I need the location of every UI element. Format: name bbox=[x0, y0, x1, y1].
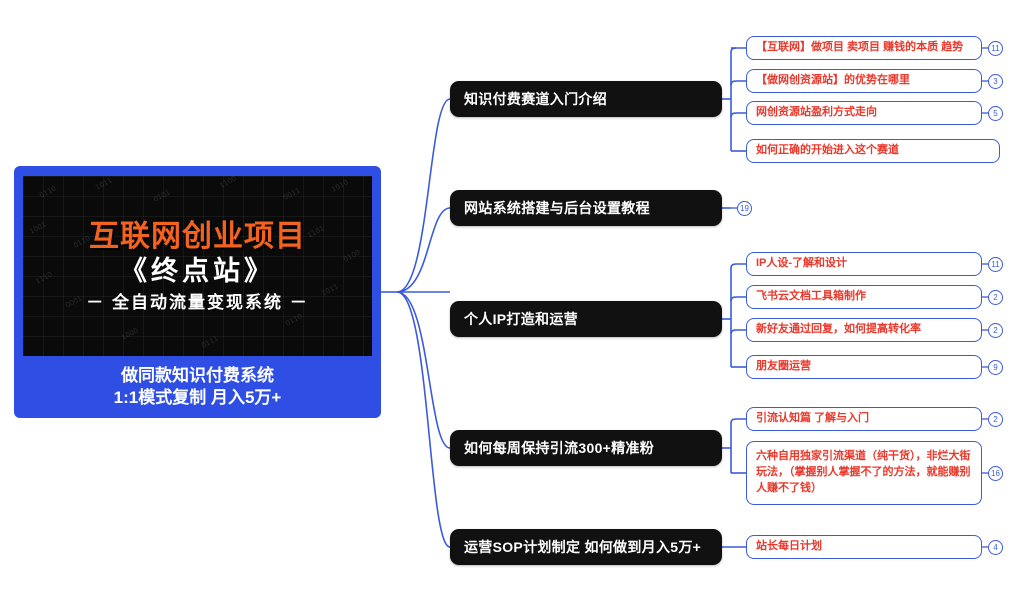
branch-node-4[interactable]: 如何每周保持引流300+精准粉 bbox=[450, 430, 722, 466]
leaf-node-4-1[interactable]: 引流认知篇 了解与入门 bbox=[746, 407, 982, 431]
leaf-badge-3-3: 2 bbox=[988, 323, 1003, 338]
branch-node-2[interactable]: 网站系统搭建与后台设置教程 bbox=[450, 190, 722, 226]
poster-tagline: － 全自动流量变现系统 － bbox=[86, 294, 308, 311]
branch-node-3[interactable]: 个人IP打造和运营 bbox=[450, 301, 722, 337]
central-caption-line2: 1:1模式复制 月入5万+ bbox=[23, 387, 372, 409]
svg-text:1010: 1010 bbox=[330, 178, 349, 193]
leaf-badge-3-1: 11 bbox=[988, 257, 1003, 272]
leaf-badge-3-2: 2 bbox=[988, 290, 1003, 305]
central-caption-line1: 做同款知识付费系统 bbox=[23, 365, 372, 387]
leaf-node-1-4[interactable]: 如何正确的开始进入这个赛道 bbox=[746, 139, 1000, 163]
svg-text:1101: 1101 bbox=[306, 224, 325, 239]
mindmap-canvas: 0110 1011 0101 1100 0011 1010 1001 0110 … bbox=[0, 0, 1024, 601]
leaf-badge-1-3: 5 bbox=[988, 106, 1003, 121]
svg-text:1001: 1001 bbox=[28, 220, 47, 235]
poster-subtitle: 《终点站》 bbox=[120, 258, 275, 285]
leaf-badge-4-2: 16 bbox=[988, 466, 1003, 481]
leaf-node-1-1[interactable]: 【互联网】做项目 卖项目 赚钱的本质 趋势 bbox=[746, 36, 982, 60]
leaf-badge-1-2: 3 bbox=[988, 74, 1003, 89]
svg-text:0001: 0001 bbox=[64, 294, 83, 309]
svg-text:0110: 0110 bbox=[284, 312, 303, 327]
branch-badge-2: 19 bbox=[737, 201, 752, 216]
leaf-node-4-2[interactable]: 六种自用独家引流渠道（纯干货），非烂大街玩法，（掌握别人掌握不了的方法，就能赚别… bbox=[746, 441, 982, 505]
svg-text:1110: 1110 bbox=[34, 270, 53, 285]
leaf-node-1-3[interactable]: 网创资源站盈利方式走向 bbox=[746, 101, 982, 125]
leaf-node-3-1[interactable]: IP人设-了解和设计 bbox=[746, 252, 982, 276]
central-poster-image: 0110 1011 0101 1100 0011 1010 1001 0110 … bbox=[23, 176, 372, 356]
svg-text:0110: 0110 bbox=[38, 184, 57, 199]
central-node[interactable]: 0110 1011 0101 1100 0011 1010 1001 0110 … bbox=[14, 166, 381, 418]
svg-text:1000: 1000 bbox=[120, 326, 139, 341]
svg-text:0101: 0101 bbox=[152, 188, 171, 203]
leaf-badge-5-1: 4 bbox=[988, 540, 1003, 555]
leaf-node-5-1[interactable]: 站长每日计划 bbox=[746, 535, 982, 559]
svg-text:0111: 0111 bbox=[200, 334, 219, 349]
leaf-node-3-2[interactable]: 飞书云文档工具箱制作 bbox=[746, 285, 982, 309]
leaf-node-3-3[interactable]: 新好友通过回复，如何提高转化率 bbox=[746, 318, 982, 342]
central-caption: 做同款知识付费系统 1:1模式复制 月入5万+ bbox=[23, 365, 372, 410]
leaf-node-3-4[interactable]: 朋友圈运营 bbox=[746, 355, 982, 379]
poster-title: 互联网创业项目 bbox=[89, 222, 306, 252]
svg-text:1011: 1011 bbox=[320, 282, 339, 297]
svg-text:0100: 0100 bbox=[342, 248, 361, 263]
svg-text:0011: 0011 bbox=[282, 186, 301, 201]
leaf-badge-3-4: 9 bbox=[988, 360, 1003, 375]
branch-node-5[interactable]: 运营SOP计划制定 如何做到月入5万+ bbox=[450, 529, 722, 565]
leaf-node-1-2[interactable]: 【做网创资源站】的优势在哪里 bbox=[746, 69, 982, 93]
branch-node-1[interactable]: 知识付费赛道入门介绍 bbox=[450, 81, 722, 117]
leaf-badge-4-1: 2 bbox=[988, 412, 1003, 427]
svg-text:1100: 1100 bbox=[218, 176, 237, 190]
svg-text:1011: 1011 bbox=[94, 176, 113, 191]
leaf-badge-1-1: 11 bbox=[988, 41, 1003, 56]
